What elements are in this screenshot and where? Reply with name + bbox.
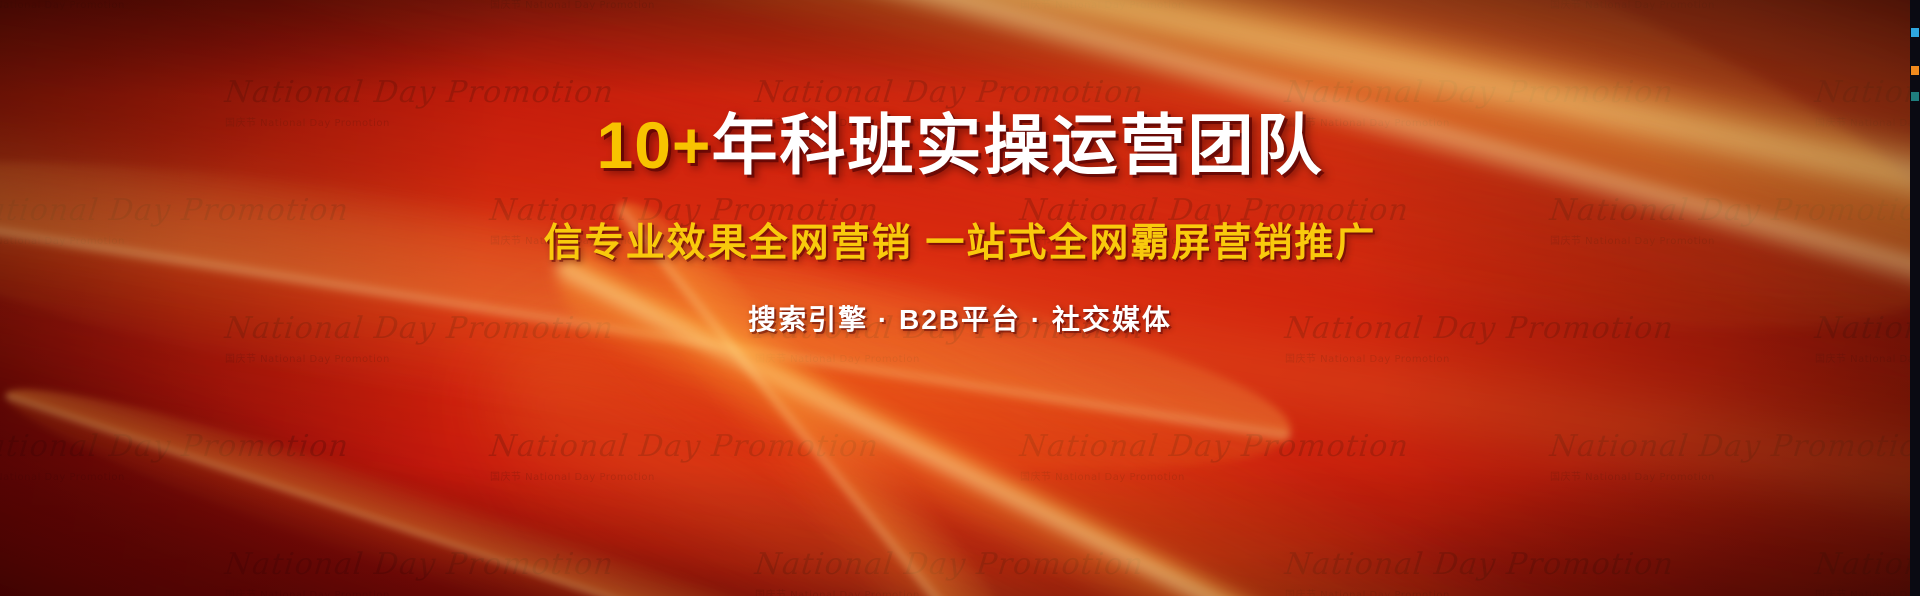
headline: 10+年科班实操运营团队 [597, 112, 1324, 178]
marker-teal[interactable] [1911, 92, 1919, 101]
headline-rest: 年科班实操运营团队 [711, 108, 1323, 182]
subline: 信专业效果全网营销 一站式全网霸屏营销推广 [544, 212, 1377, 268]
promo-banner: National Day Promotion国庆节 National Day P… [0, 0, 1920, 596]
marker-blue[interactable] [1911, 28, 1919, 37]
marker-orange[interactable] [1911, 66, 1919, 75]
banner-content: 10+年科班实操运营团队 信专业效果全网营销 一站式全网霸屏营销推广 搜索引擎 … [0, 0, 1920, 596]
tagline: 搜索引擎 · B2B平台 · 社交媒体 [748, 298, 1172, 338]
headline-highlight: 10+ [597, 108, 712, 182]
right-edge-strip[interactable] [1910, 0, 1920, 596]
